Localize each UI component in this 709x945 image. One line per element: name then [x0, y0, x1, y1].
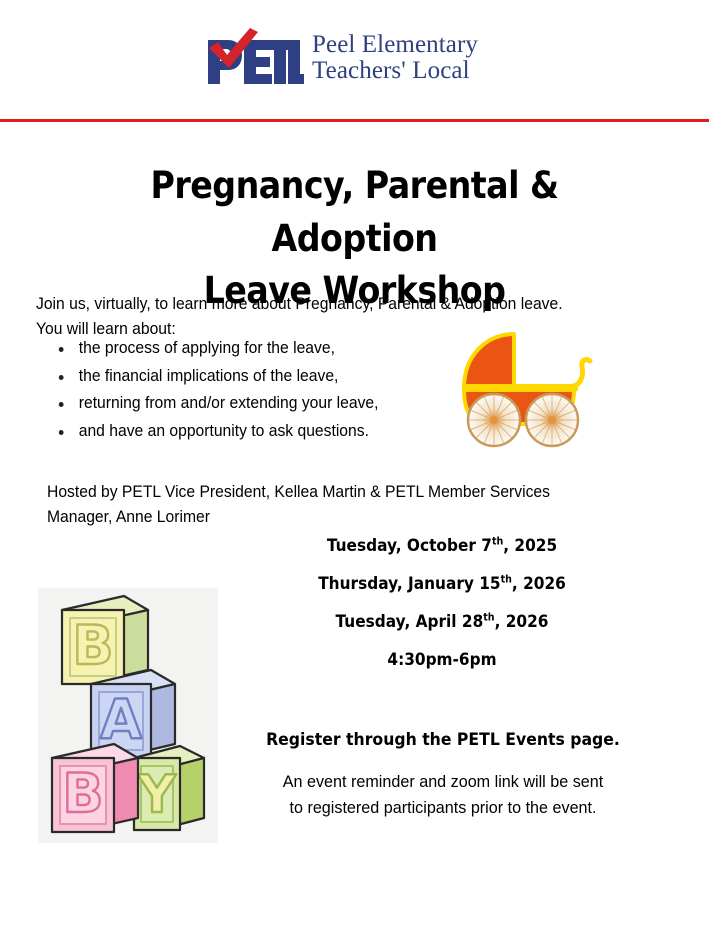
session-date-prefix: Tuesday, October 7 — [327, 536, 492, 555]
flyer-header: Peel Elementary Teachers' Local — [0, 0, 709, 120]
list-item: the financial implications of the leave, — [55, 368, 464, 385]
petl-logo: Peel Elementary Teachers' Local — [204, 28, 478, 88]
block-b-top: B — [62, 596, 148, 684]
session-date-ordinal: th — [501, 575, 512, 586]
stroller-wheel-front — [526, 394, 578, 446]
session-date: Tuesday, October 7th, 2025 — [257, 536, 627, 555]
block-a-middle: A — [91, 670, 175, 758]
block-y-bottom-right: Y — [134, 746, 204, 830]
stroller-handle-shape — [568, 360, 590, 387]
session-date-ordinal: th — [483, 613, 494, 624]
list-item: the process of applying for the leave, — [55, 340, 464, 357]
stroller-hood-shape — [464, 334, 514, 388]
learning-topics-list: the process of applying for the leave, t… — [55, 340, 464, 450]
block-b-bottom-left: B — [52, 744, 138, 832]
block-letter-b2: B — [62, 762, 103, 825]
block-letter-y: Y — [137, 765, 177, 825]
petl-letters-shape — [208, 40, 304, 84]
header-divider-rule — [0, 119, 709, 122]
session-date-ordinal: th — [492, 537, 503, 548]
register-note-line2: to registered participants prior to the … — [244, 795, 643, 821]
register-heading: Register through the PETL Events page. — [244, 730, 643, 749]
session-date-prefix: Tuesday, April 28 — [336, 612, 484, 631]
logo-name-line1: Peel Elementary — [312, 32, 478, 59]
register-note: An event reminder and zoom link will be … — [244, 769, 643, 820]
session-date-suffix: , 2026 — [512, 574, 566, 593]
session-time: 4:30pm-6pm — [257, 650, 627, 669]
hosted-line1: Hosted by PETL Vice President, Kellea Ma… — [47, 480, 608, 505]
session-date-prefix: Thursday, January 15 — [318, 574, 500, 593]
session-dates-list: Tuesday, October 7th, 2025 Thursday, Jan… — [257, 536, 627, 669]
petl-logo-wordmark: Peel Elementary Teachers' Local — [312, 32, 478, 85]
stroller-rail-shape — [462, 384, 578, 392]
session-date: Tuesday, April 28th, 2026 — [257, 612, 627, 631]
baby-stroller-illustration — [456, 330, 604, 452]
register-note-line1: An event reminder and zoom link will be … — [244, 769, 643, 795]
session-date-suffix: , 2025 — [503, 536, 557, 555]
hosted-line2: Manager, Anne Lorimer — [47, 505, 608, 530]
logo-name-line2: Teachers' Local — [312, 58, 478, 85]
list-item: and have an opportunity to ask questions… — [55, 423, 464, 440]
block-letter-a: A — [100, 688, 142, 751]
block-letter-b1: B — [72, 614, 113, 677]
session-date-suffix: , 2026 — [495, 612, 549, 631]
stroller-wheel-rear — [468, 394, 520, 446]
page-title-line1: Pregnancy, Parental & Adoption — [68, 160, 641, 265]
hosted-by-text: Hosted by PETL Vice President, Kellea Ma… — [47, 480, 608, 530]
intro-line1: Join us, virtually, to learn more about … — [36, 292, 616, 317]
registration-info: Register through the PETL Events page. A… — [244, 730, 643, 820]
list-item: returning from and/or extending your lea… — [55, 395, 464, 412]
petl-logo-mark — [204, 28, 304, 88]
session-date: Thursday, January 15th, 2026 — [257, 574, 627, 593]
baby-blocks-illustration: B A Y B — [38, 588, 218, 843]
